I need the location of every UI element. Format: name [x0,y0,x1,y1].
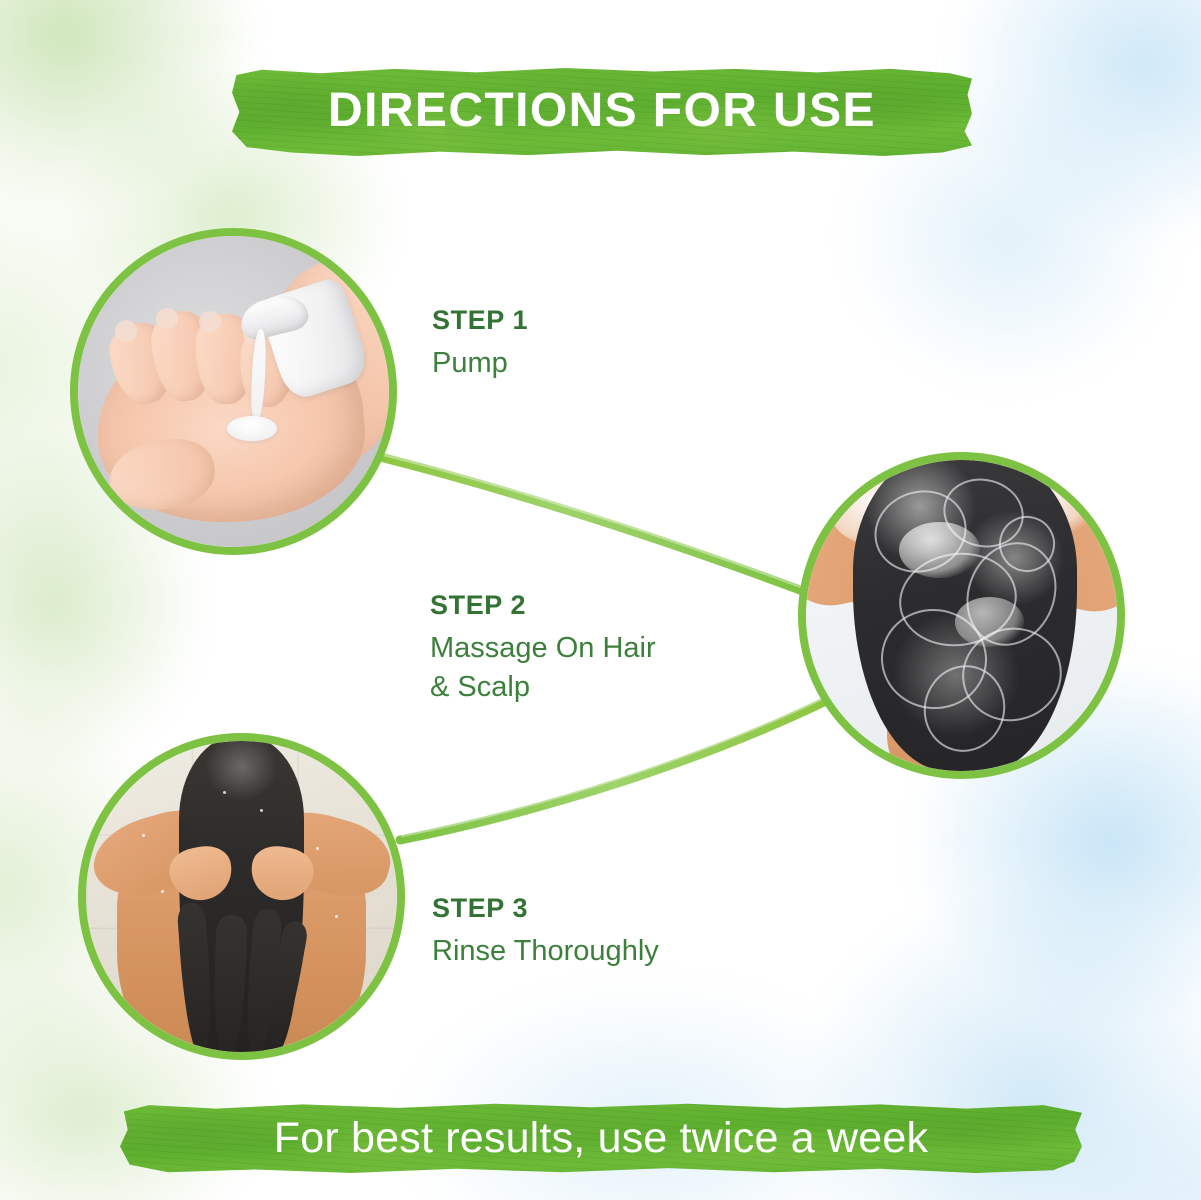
step-1-photo-pump [78,236,389,547]
step-3-image-circle [78,733,405,1060]
step-2-label: STEP 2 [430,590,760,621]
footer-tagline: For best results, use twice a week [274,1117,928,1160]
step-3-water-droplet [335,915,338,918]
step-3-water-droplet [161,890,164,893]
title-banner: DIRECTIONS FOR USE [232,68,972,156]
step-1-fingernail [115,320,137,342]
connector-step-2-to-step-3-highlight [402,697,826,836]
step-2-photo-massage [806,460,1117,771]
connector-step-2-to-step-3 [400,700,828,840]
step-3-text-block: STEP 3 Rinse Thoroughly [432,893,659,971]
step-2-lather [899,522,980,578]
step-1-description: Pump [432,344,528,383]
step-2-description-line-1: Massage On Hair [430,629,760,668]
step-3-description: Rinse Thoroughly [432,932,659,971]
directions-for-use-infographic: DIRECTIONS FOR USE STEP 1 Pump [0,0,1201,1200]
step-2-image-circle [798,452,1125,779]
connector-step-1-to-step-2 [372,455,808,593]
footer-banner: For best results, use twice a week [120,1103,1082,1173]
step-1-text-block: STEP 1 Pump [432,305,528,383]
step-2-text-block: STEP 2 Massage On Hair & Scalp [430,590,760,707]
step-1-label: STEP 1 [432,305,528,336]
step-2-description-line-2: & Scalp [430,668,760,707]
step-3-label: STEP 3 [432,893,659,924]
page-title: DIRECTIONS FOR USE [328,87,876,137]
step-1-image-circle [70,228,397,555]
step-2-description: Massage On Hair & Scalp [430,629,760,707]
step-1-fingernail [156,308,178,330]
step-3-water-droplet [316,847,319,850]
step-3-photo-rinse [86,741,397,1052]
step-2-lather [955,597,1023,647]
step-3-water-droplet [223,791,226,794]
